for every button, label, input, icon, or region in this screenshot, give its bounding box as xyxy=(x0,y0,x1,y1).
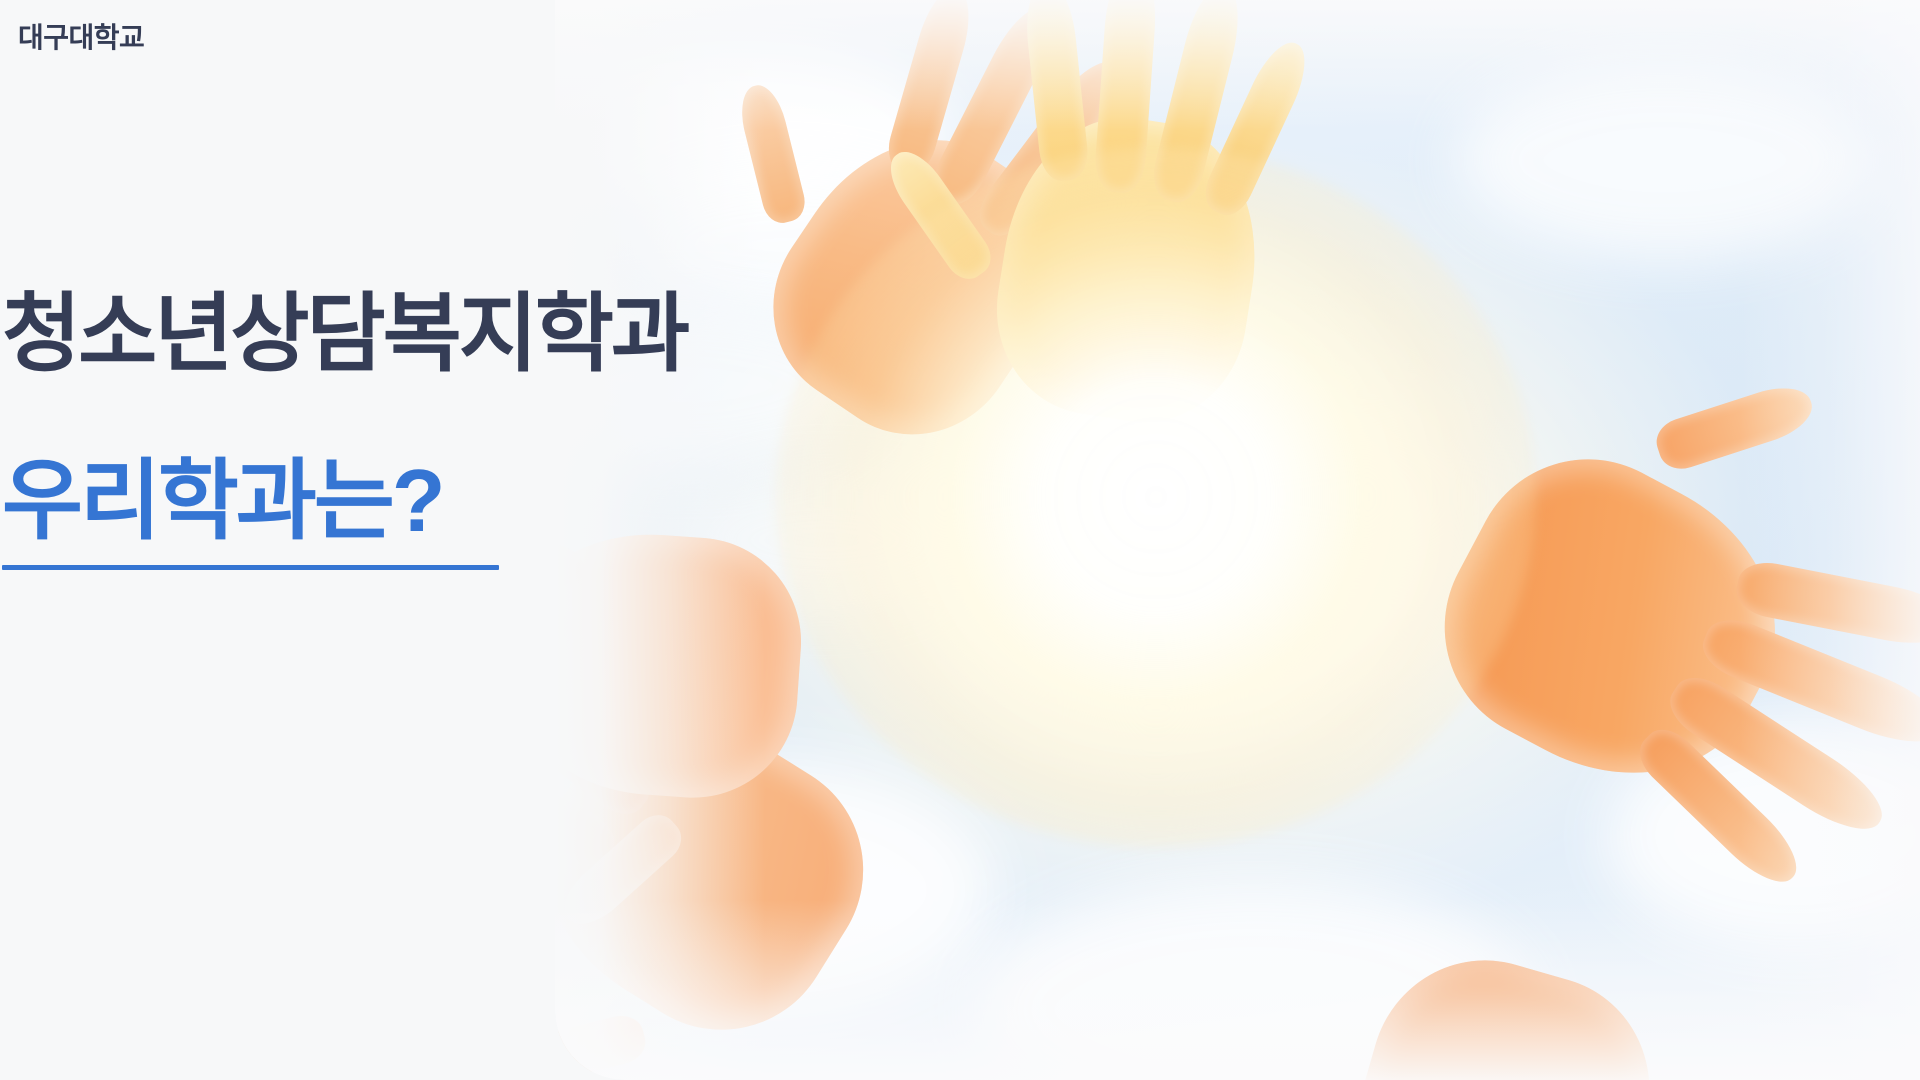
page-title: 청소년상담복지학과 xyxy=(2,282,687,387)
photo-right-fade xyxy=(1740,0,1920,1080)
hero-photo xyxy=(555,0,1920,1080)
subhead-block: 우리학과는? xyxy=(2,446,499,570)
page-subtitle: 우리학과는? xyxy=(2,446,499,555)
subtitle-underline xyxy=(2,565,499,570)
photo-top-fade xyxy=(555,0,1920,130)
brand-logo-text: 대구대학교 xyxy=(18,20,144,56)
slide-root: 대구대학교 청소년상담복지학과 우리학과는? xyxy=(0,0,1920,1080)
photo-bottom-fade xyxy=(555,900,1920,1080)
